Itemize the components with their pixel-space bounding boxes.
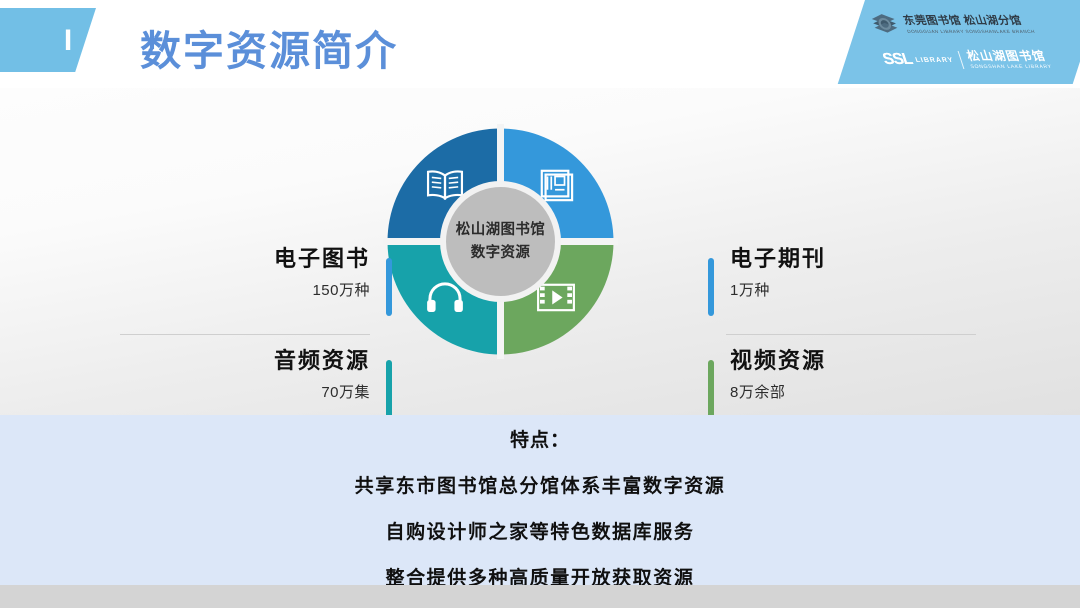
slide-root: I 数字资源简介 东莞图书馆 松山湖分馆 DONGGUAN LIBRARY SO… [0, 0, 1080, 608]
center-line-1: 松山湖图书馆 [456, 223, 545, 238]
left-divider [120, 334, 370, 335]
section-number-label: I [48, 18, 88, 64]
ssl-library-label: LIBRARY [914, 57, 954, 64]
stat-audio: 音频资源 70万集 [130, 350, 370, 400]
stat-ejournals: 电子期刊 1万种 [730, 248, 970, 298]
stat-ejournals-title: 电子期刊 [730, 248, 970, 270]
logo-secondary-row: SSL LIBRARY 松山湖图书馆 SONGSHAN LAKE LIBRARY [880, 50, 1053, 70]
logo-primary-row: 东莞图书馆 松山湖分馆 DONGGUAN LIBRARY SONGSHANLAK… [868, 12, 1037, 38]
stat-video-title: 视频资源 [730, 350, 970, 372]
logo-cn-primary: 东莞图书馆 松山湖分馆 [902, 16, 1033, 27]
stat-ebooks-title: 电子图书 [130, 248, 370, 270]
logo-divider [958, 51, 965, 69]
resource-donut-chart: 松山湖图书馆 数字资源 [383, 124, 618, 359]
feature-item-2: 自购设计师之家等特色数据库服务 [385, 523, 694, 542]
stat-audio-value: 70万集 [130, 385, 370, 400]
features-panel: 特点： 共享东市图书馆总分馆体系丰富数字资源 自购设计师之家等特色数据库服务 整… [0, 415, 1080, 585]
ssl-monogram-icon: SSL LIBRARY [881, 52, 956, 68]
stat-video-value: 8万余部 [730, 385, 970, 400]
stat-video: 视频资源 8万余部 [730, 350, 970, 400]
stat-ejournals-value: 1万种 [730, 283, 970, 298]
page-title: 数字资源简介 [140, 17, 398, 77]
logo-en-primary: DONGGUAN LIBRARY SONGSHANLAKE BRANCH [907, 30, 1036, 35]
slide-body: 松山湖图书馆 数字资源 电子图书 150万种 音频资源 70万集 电子期刊 1万… [0, 88, 1080, 415]
stat-video-accent-bar [708, 360, 714, 418]
slide-header: I 数字资源简介 东莞图书馆 松山湖分馆 DONGGUAN LIBRARY SO… [0, 0, 1080, 88]
footer-strip [0, 585, 1080, 608]
features-heading: 特点： [510, 431, 570, 450]
dongguan-library-e-mark-icon [868, 12, 902, 38]
stat-ejournals-accent-bar [708, 258, 714, 316]
right-divider [726, 334, 976, 335]
stat-ebooks-value: 150万种 [130, 283, 370, 298]
stat-audio-title: 音频资源 [130, 350, 370, 372]
logo-cn-secondary: 松山湖图书馆 [965, 50, 1050, 62]
stat-audio-accent-bar [386, 360, 392, 418]
stat-ebooks-accent-bar [386, 258, 392, 316]
feature-item-1: 共享东市图书馆总分馆体系丰富数字资源 [355, 477, 726, 496]
stat-ebooks: 电子图书 150万种 [130, 248, 370, 298]
ssl-glyph-label: SSL [881, 52, 914, 68]
donut-center-label: 松山湖图书馆 数字资源 [440, 181, 561, 302]
library-logo-content: 东莞图书馆 松山湖分馆 DONGGUAN LIBRARY SONGSHANLAK… [846, 0, 1080, 84]
center-line-2: 数字资源 [471, 246, 531, 261]
logo-en-secondary: SONGSHAN LAKE LIBRARY [970, 65, 1053, 70]
